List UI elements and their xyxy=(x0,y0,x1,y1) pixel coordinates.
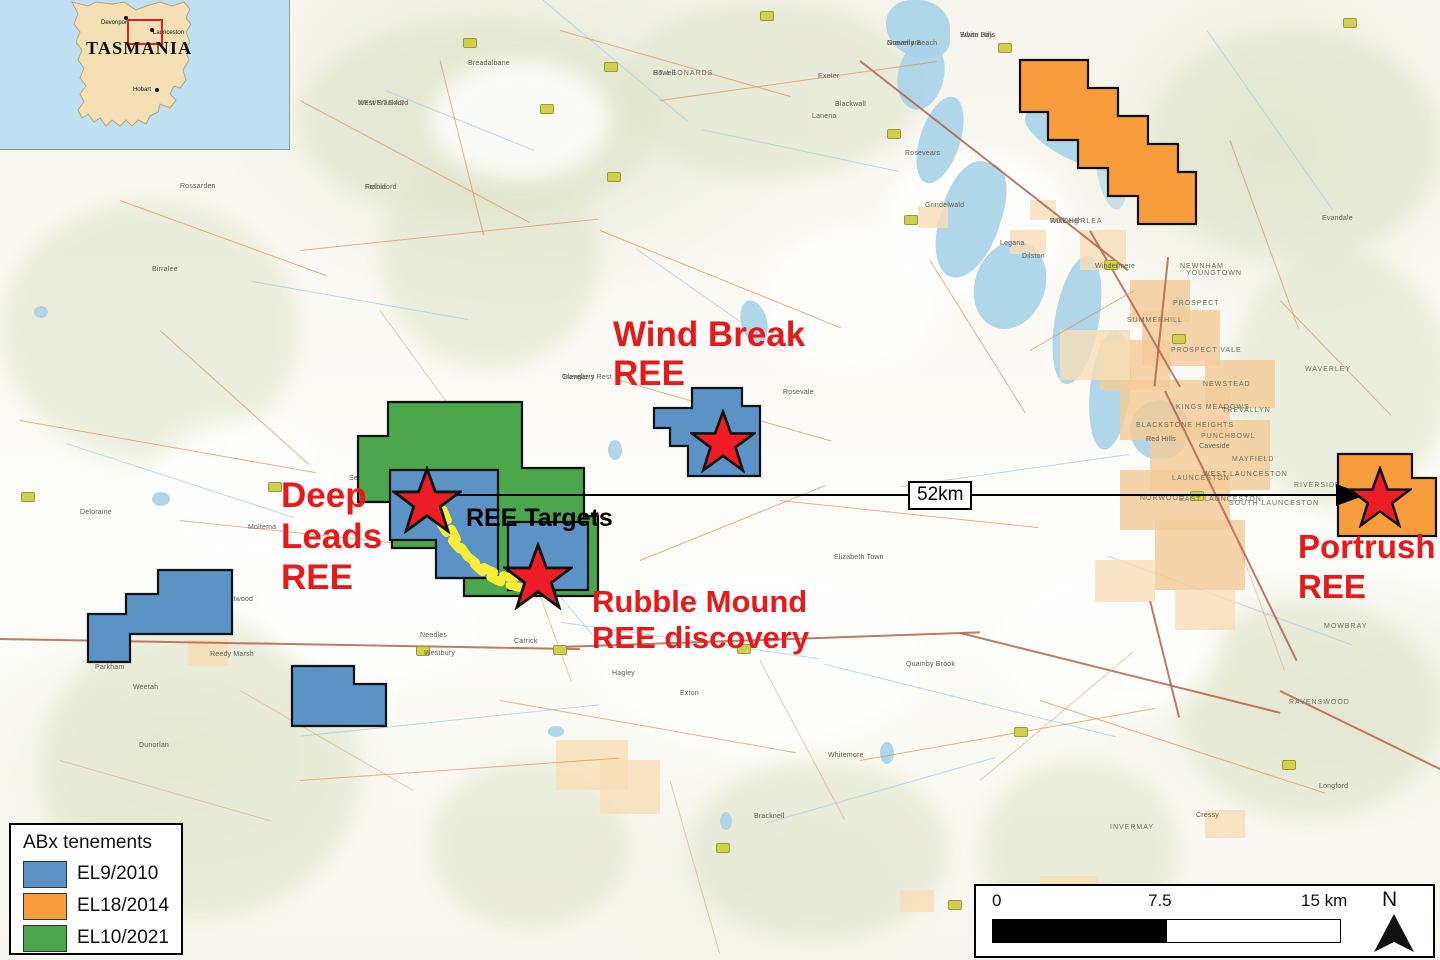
label-ree-targets: REE Targets xyxy=(466,504,613,533)
inset-title: TASMANIA xyxy=(86,38,192,59)
place-label: Deloraine xyxy=(80,509,112,516)
place-label: Moltema xyxy=(248,524,276,531)
route-shield xyxy=(760,11,774,21)
scale-bar-fill xyxy=(993,920,1167,942)
place-label: Longford xyxy=(1319,783,1348,790)
place-label: Birralee xyxy=(152,266,178,273)
locator-inset-map: Devonport Launceston Hobart TASMANIA xyxy=(0,0,290,150)
legend-title: ABx tenements xyxy=(23,832,152,854)
place-label: SUMMERHILL xyxy=(1127,317,1183,324)
place-label: NEWNHAM xyxy=(1180,263,1224,270)
star-deep-leads xyxy=(392,466,462,539)
place-label: PUNCHBOWL xyxy=(1201,433,1256,440)
star-rubble-mound xyxy=(503,542,573,615)
place-label: ST LEONARDS xyxy=(653,70,713,77)
place-label: TREVALLYN xyxy=(1222,407,1271,414)
place-label: Carrick xyxy=(514,638,538,645)
place-label: Lanena xyxy=(812,113,837,120)
tenement-el18-2014[interactable] xyxy=(1012,54,1202,234)
place-label: Nunamara xyxy=(887,40,921,47)
place-label: NORWOOD xyxy=(1140,495,1185,502)
route-shield xyxy=(21,492,35,502)
route-shield xyxy=(1343,18,1357,28)
place-label: BLACKSTONE HEIGHTS xyxy=(1136,422,1234,429)
legend-item-el9-2010[interactable]: EL9/2010 xyxy=(23,861,173,887)
place-label: Windermere xyxy=(1095,263,1135,270)
route-shield xyxy=(998,43,1012,53)
route-shield xyxy=(604,62,618,72)
place-label: RAVENSWOOD xyxy=(1289,699,1350,706)
place-label: Elizabeth Town xyxy=(834,554,884,561)
water-body-lake xyxy=(880,742,894,764)
place-label: Dunorlan xyxy=(139,742,169,749)
place-label: Dilston xyxy=(1022,253,1045,260)
water-body-lake xyxy=(152,492,170,506)
urban-area xyxy=(918,206,948,228)
map-figure: HowellWinkleighWest FrankfordFrankfordGl… xyxy=(0,0,1440,960)
route-shield xyxy=(1014,727,1028,737)
urban-area xyxy=(1095,560,1155,602)
place-label: Westbury xyxy=(424,650,455,657)
place-label: MAYFIELD xyxy=(1232,456,1275,463)
place-label: Rosevears xyxy=(905,150,940,157)
place-label: White Hills xyxy=(960,32,995,39)
scale-tick-max: 15 km xyxy=(1301,891,1347,911)
route-shield xyxy=(540,104,554,114)
inset-dot-hobart xyxy=(155,88,159,92)
north-arrow-icon: N xyxy=(1364,890,1424,952)
place-label: MOWBRAY xyxy=(1324,623,1367,630)
route-shield xyxy=(887,129,901,139)
label-deep-leads-line2: Leads xyxy=(281,519,382,555)
place-label: Relbia xyxy=(365,184,386,191)
place-label: Weetah xyxy=(133,684,158,691)
route-shield xyxy=(607,172,621,182)
legend-swatch-green xyxy=(23,925,67,952)
place-label: Quamby Brook xyxy=(906,661,955,668)
place-label: Travellers Rest xyxy=(562,374,612,381)
legend-label-el18-2014: EL18/2014 xyxy=(77,895,169,917)
label-rubble-mound-line2: REE discovery xyxy=(592,622,809,654)
tenement-el9-2010-southwest[interactable] xyxy=(288,662,390,730)
place-label: SOUTH LAUNCESTON xyxy=(1229,500,1319,507)
water-body-lake xyxy=(548,726,564,737)
legend-label-el9-2010: EL9/2010 xyxy=(77,863,158,885)
urban-area xyxy=(600,760,660,814)
water-body-lake xyxy=(34,306,48,318)
scale-bar-graphic xyxy=(992,919,1341,943)
route-shield xyxy=(948,900,962,910)
place-label: Grindelwald xyxy=(925,202,964,209)
place-label: Evandale xyxy=(1322,215,1353,222)
place-label: NEWSTEAD xyxy=(1203,381,1251,388)
place-label: Exeter xyxy=(818,73,839,80)
place-label: Red Hills xyxy=(1146,436,1176,443)
place-label: PROSPECT VALE xyxy=(1171,347,1242,354)
label-wind-break-line2: REE xyxy=(613,356,685,392)
route-shield xyxy=(1282,760,1296,770)
route-shield xyxy=(904,215,918,225)
scale-tick-mid: 7.5 xyxy=(1148,891,1172,911)
urban-area xyxy=(900,890,934,912)
place-label: Rosevale xyxy=(783,389,814,396)
legend-panel: ABx tenements EL9/2010 EL18/2014 EL10/20… xyxy=(9,823,183,955)
place-label: INVERMAY xyxy=(1110,824,1154,831)
place-label: Whitemore xyxy=(828,752,864,759)
label-portrush-line1: Portrush xyxy=(1298,530,1436,564)
scale-tick-0: 0 xyxy=(992,891,1001,911)
place-label: WAVERLEY xyxy=(1305,366,1351,373)
distance-label: 52km xyxy=(908,481,972,510)
legend-swatch-orange xyxy=(23,893,67,920)
distance-line xyxy=(436,494,1358,496)
label-deep-leads-line3: REE xyxy=(281,560,353,596)
route-shield xyxy=(1172,334,1186,344)
route-shield xyxy=(463,38,477,48)
inset-label-devonport: Devonport xyxy=(101,20,129,26)
north-arrow-label: N xyxy=(1382,888,1397,912)
route-shield xyxy=(268,482,282,492)
place-label: WEST LAUNCESTON xyxy=(1203,471,1288,478)
water-body-lake xyxy=(720,812,732,830)
label-deep-leads-line1: Deep xyxy=(281,478,367,514)
label-rubble-mound-line1: Rubble Mound xyxy=(592,586,807,618)
relief-patch xyxy=(380,150,600,370)
tenement-el9-2010-west[interactable] xyxy=(84,566,236,666)
urban-area xyxy=(1175,590,1235,630)
place-label: YOUNGTOWN xyxy=(1186,270,1242,277)
star-wind-break xyxy=(690,409,756,478)
legend-label-el10-2021: EL10/2021 xyxy=(77,927,169,949)
route-shield xyxy=(716,843,730,853)
place-label: Cressy xyxy=(1196,812,1219,819)
urban-area xyxy=(1060,330,1130,380)
place-label: NEWSTEAD xyxy=(358,100,406,107)
place-label: Breadalbane xyxy=(468,60,510,67)
star-portrush xyxy=(1348,466,1412,533)
place-label: Blackwall xyxy=(835,101,866,108)
legend-item-el10-2021[interactable]: EL10/2021 xyxy=(23,925,173,951)
place-label: Hagley xyxy=(612,670,635,677)
place-label: Rossarden xyxy=(180,183,216,190)
route-shield xyxy=(553,645,567,655)
label-portrush-line2: REE xyxy=(1298,570,1366,604)
label-wind-break-line1: Wind Break xyxy=(613,317,805,353)
place-label: Needles xyxy=(420,632,447,639)
place-label: Bracknell xyxy=(754,813,785,820)
inset-label-hobart: Hobart xyxy=(133,87,151,93)
place-label: Exton xyxy=(680,690,699,697)
scalebar-panel: 0 7.5 15 km N xyxy=(974,884,1435,958)
place-label: Legana xyxy=(1000,240,1025,247)
legend-swatch-blue xyxy=(23,861,67,888)
place-label: PROSPECT xyxy=(1173,300,1220,307)
place-label: Caveside xyxy=(1199,443,1230,450)
legend-item-el18-2014[interactable]: EL18/2014 xyxy=(23,893,173,919)
